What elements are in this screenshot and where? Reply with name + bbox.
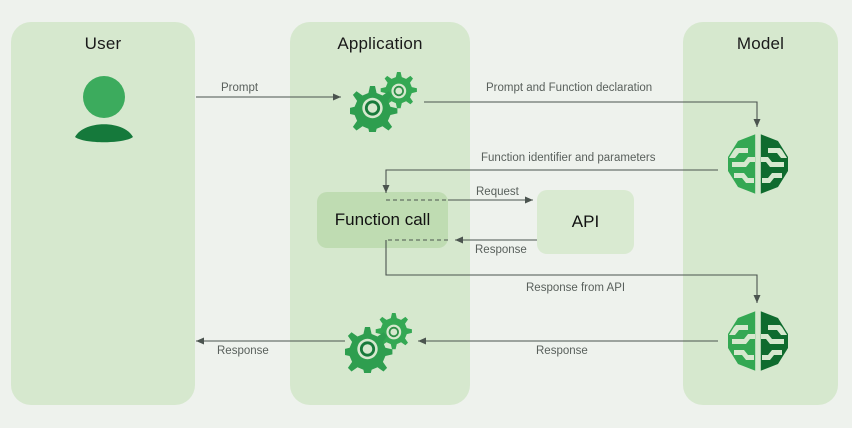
user-avatar [74, 76, 134, 144]
edge-label-prompt-and-declaration: Prompt and Function declaration [486, 82, 652, 94]
app-gears-top [350, 70, 420, 132]
app-gears-bottom [345, 311, 415, 373]
edge-label-api-response: Response [475, 244, 527, 256]
brain-chip-icon [722, 131, 794, 197]
function-call-box[interactable]: Function call [317, 192, 448, 248]
gears-icon [345, 311, 415, 373]
diagram-canvas: User Application Model [0, 0, 852, 428]
edge-label-user-response: Response [217, 345, 269, 357]
edge-label-model-response: Response [536, 345, 588, 357]
lane-title-model: Model [683, 34, 838, 54]
lane-title-user: User [11, 34, 195, 54]
user-avatar-icon [74, 76, 134, 144]
edge-label-response-from-api: Response from API [526, 282, 625, 294]
edge-label-request: Request [476, 186, 519, 198]
brain-chip-icon [722, 308, 794, 374]
lane-title-application: Application [290, 34, 470, 54]
gears-icon [350, 70, 420, 132]
api-label: API [572, 212, 599, 232]
model-brain-bottom [722, 308, 794, 374]
function-call-label: Function call [335, 210, 430, 230]
model-brain-top [722, 131, 794, 197]
edge-label-function-identifier: Function identifier and parameters [481, 152, 656, 164]
api-box[interactable]: API [537, 190, 634, 254]
edge-label-prompt: Prompt [221, 82, 258, 94]
